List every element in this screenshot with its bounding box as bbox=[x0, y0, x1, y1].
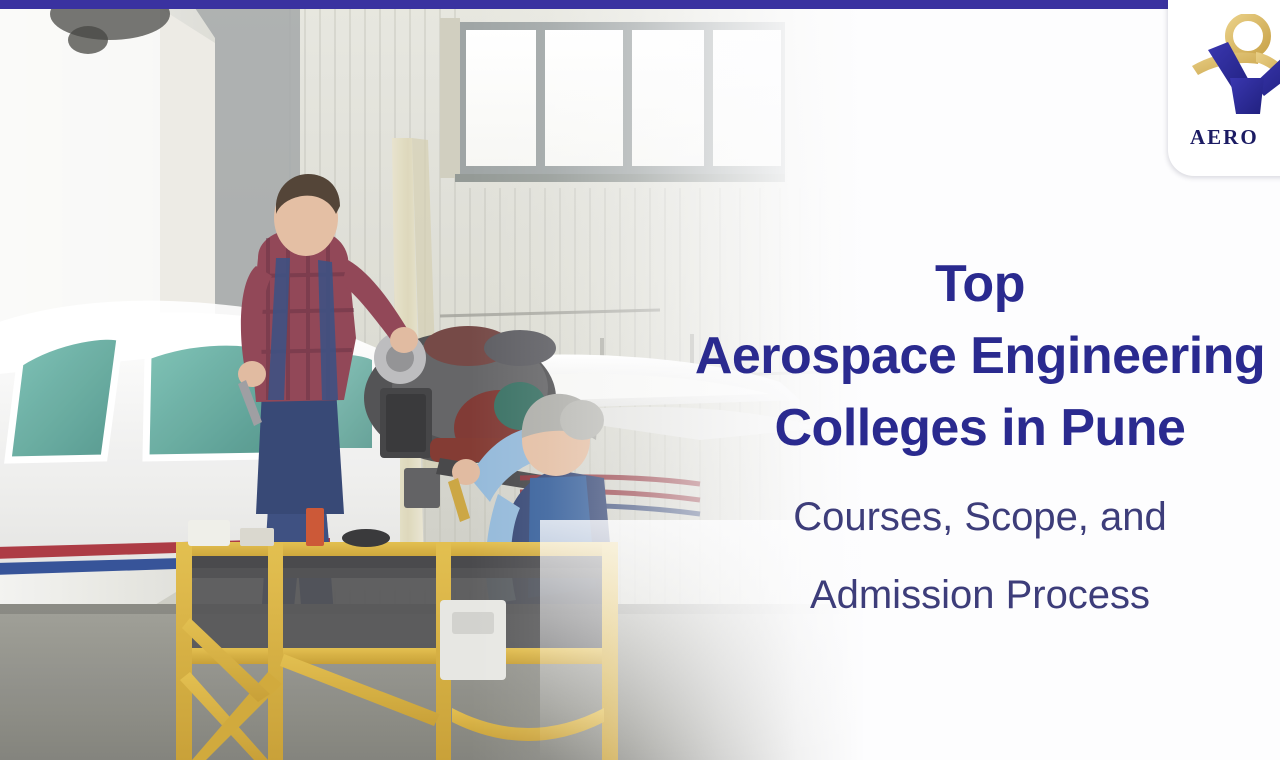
aero-logo-icon bbox=[1186, 14, 1280, 118]
logo-wordmark: AERO bbox=[1190, 125, 1280, 150]
top-accent-bar bbox=[0, 0, 1168, 9]
logo-card[interactable]: AERO bbox=[1168, 0, 1280, 176]
headline-line-3: Colleges in Pune bbox=[600, 392, 1280, 464]
promo-banner: Top Aerospace Engineering Colleges in Pu… bbox=[0, 0, 1280, 760]
headline-line-2: Aerospace Engineering bbox=[600, 320, 1280, 392]
banner-text-block: Top Aerospace Engineering Colleges in Pu… bbox=[600, 248, 1280, 634]
page-title: Top Aerospace Engineering Colleges in Pu… bbox=[600, 248, 1280, 464]
headline-line-1: Top bbox=[600, 248, 1280, 320]
subheading-line-2: Admission Process bbox=[600, 556, 1280, 634]
page-subtitle: Courses, Scope, and Admission Process bbox=[600, 478, 1280, 634]
subheading-line-1: Courses, Scope, and bbox=[600, 478, 1280, 556]
